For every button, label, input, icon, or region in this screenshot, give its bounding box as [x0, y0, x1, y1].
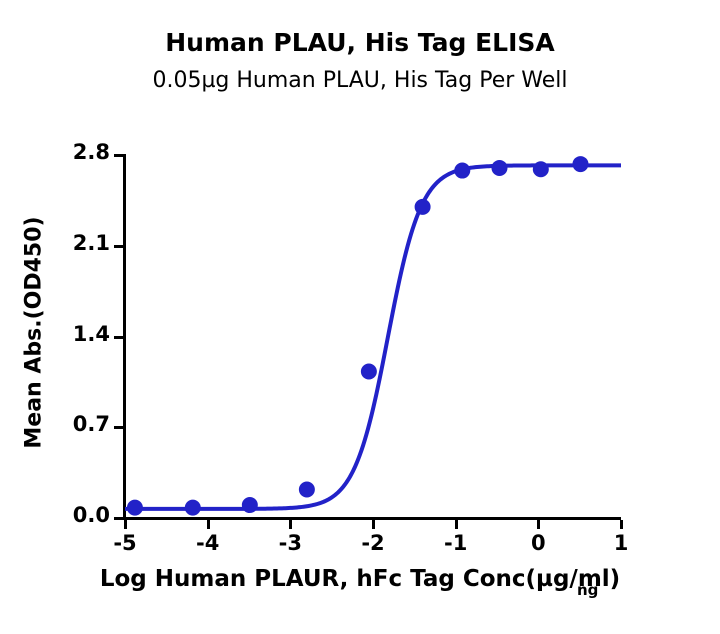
data-point — [185, 500, 201, 516]
data-point — [491, 160, 507, 176]
data-point — [299, 481, 315, 497]
plot-graphics — [0, 0, 720, 634]
chart-container: Human PLAU, His Tag ELISA 0.05µg Human P… — [0, 0, 720, 634]
data-point — [454, 163, 470, 179]
data-point — [127, 500, 143, 516]
data-point — [533, 161, 549, 177]
data-point — [415, 199, 431, 215]
data-point — [242, 497, 258, 513]
data-point — [572, 156, 588, 172]
data-point — [361, 364, 377, 380]
fit-curve — [125, 165, 621, 509]
